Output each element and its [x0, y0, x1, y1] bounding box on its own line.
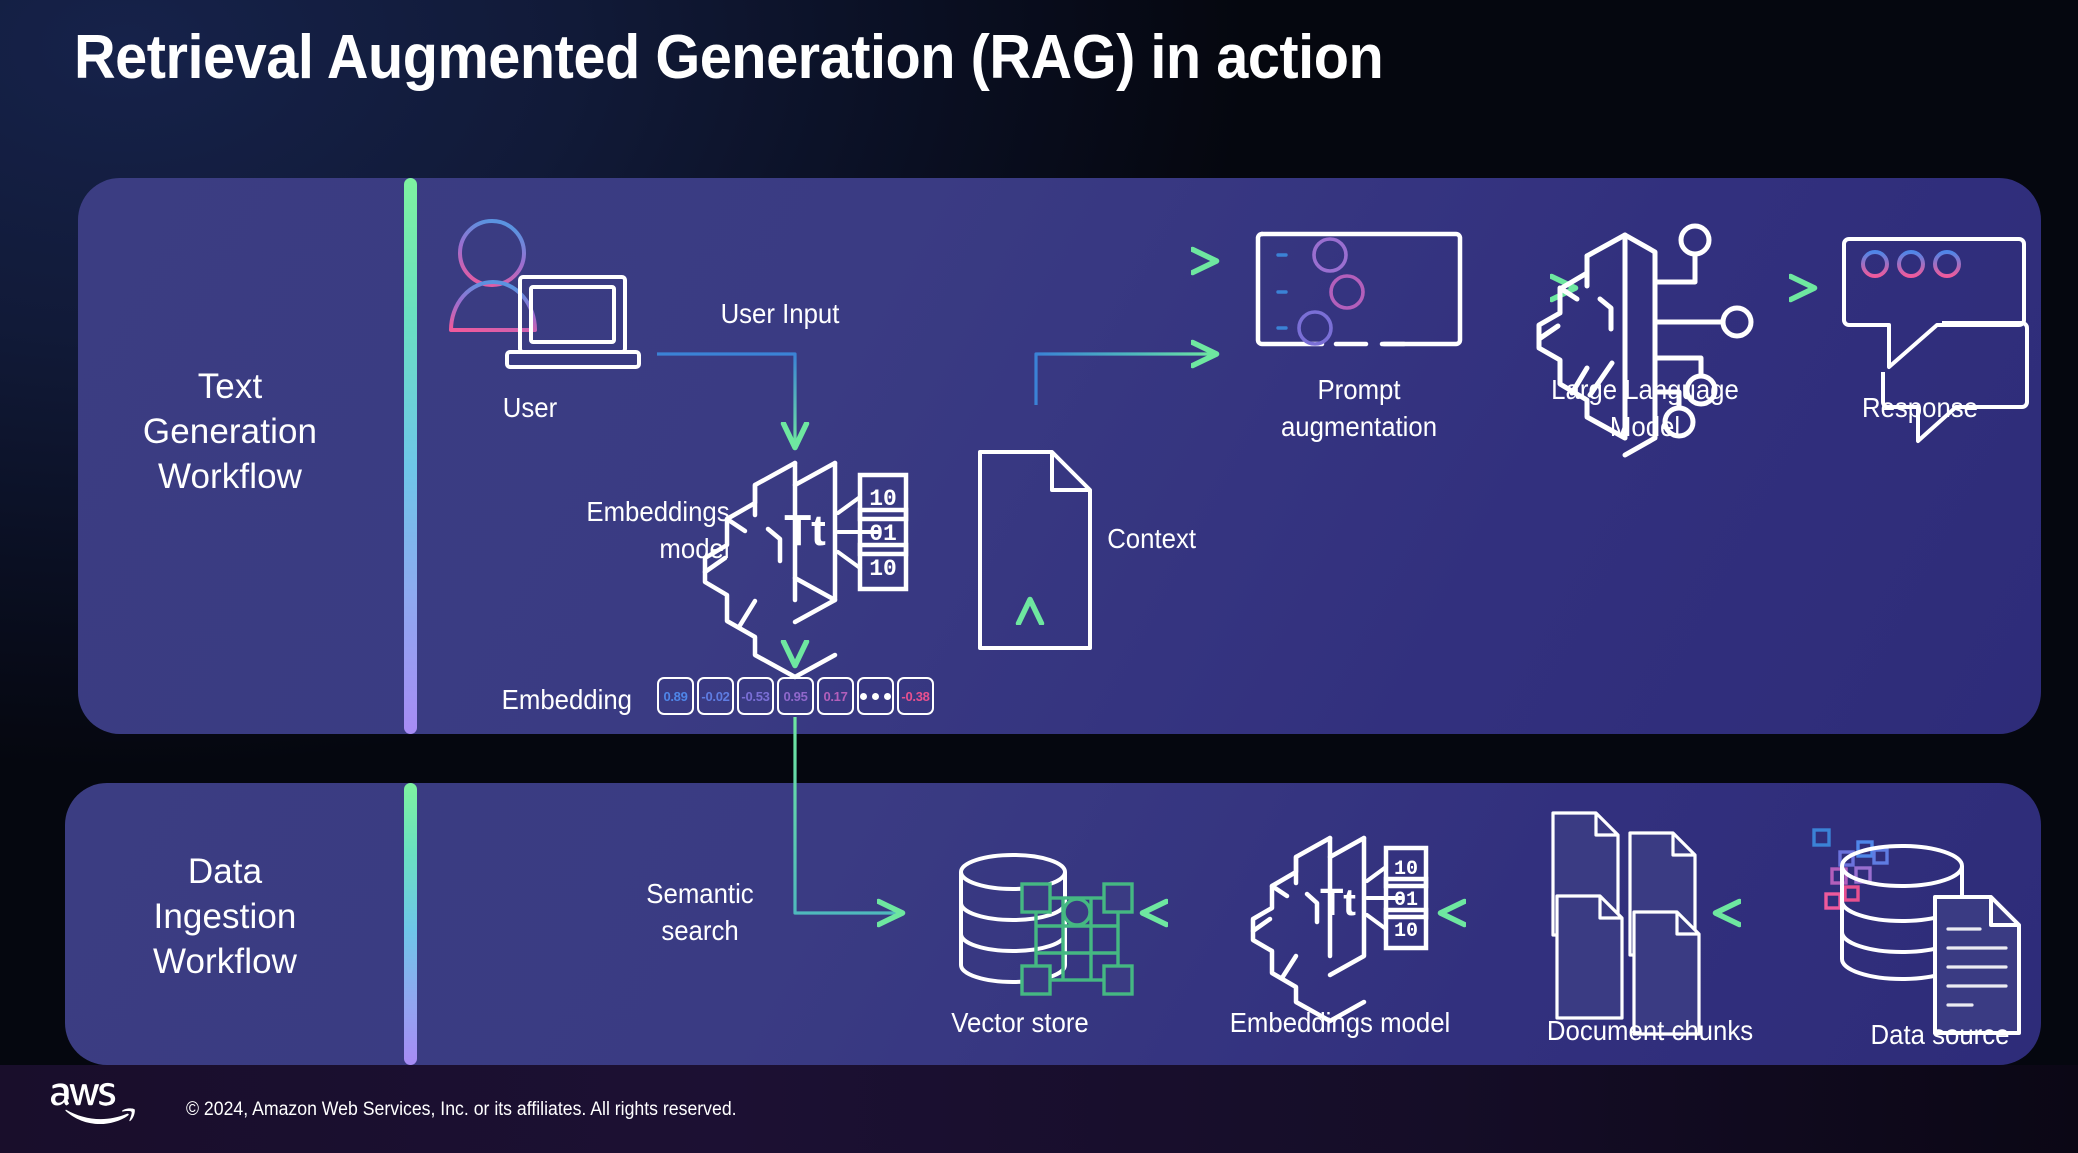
panel-label-line-3: Workflow	[60, 455, 400, 500]
label-response: Response	[1810, 390, 2031, 427]
label-data-source: Data source	[1825, 1017, 2055, 1054]
embedding-cell: 0.17	[817, 677, 854, 715]
embedding-vector: 0.89 -0.02 -0.53 0.95 0.17 -0.38	[657, 677, 934, 715]
aws-logo	[48, 1081, 140, 1127]
page-title: Retrieval Augmented Generation (RAG) in …	[74, 22, 1383, 93]
embedding-cell: 0.89	[657, 677, 694, 715]
label-user-input: User Input	[642, 296, 918, 333]
panel-label-line-2: Ingestion	[55, 895, 395, 940]
accent-bar-text-generation	[404, 178, 417, 734]
panel-label-data-ingestion: Data Ingestion Workflow	[55, 850, 395, 984]
label-large-language-model: Large Language Model	[1484, 372, 1806, 446]
panel-label-line-1: Text	[60, 365, 400, 410]
label-vector-store: Vector store	[910, 1005, 1131, 1042]
copyright-text: © 2024, Amazon Web Services, Inc. or its…	[186, 1099, 737, 1121]
panel-label-text-generation: Text Generation Workflow	[60, 365, 400, 499]
label-context: Context	[1107, 521, 1273, 558]
ellipsis-icon	[860, 693, 891, 700]
label-semantic-search: Semantic search	[580, 876, 819, 950]
embedding-cell: 0.95	[777, 677, 814, 715]
embedding-cell: -0.02	[697, 677, 734, 715]
panel-label-line-3: Workflow	[55, 940, 395, 985]
label-user: User	[447, 390, 613, 427]
embedding-cell: -0.38	[897, 677, 934, 715]
panel-label-line-2: Generation	[60, 410, 400, 455]
accent-bar-data-ingestion	[404, 783, 417, 1065]
embedding-cell: -0.53	[737, 677, 774, 715]
embedding-cell-ellipsis	[857, 677, 894, 715]
label-document-chunks: Document chunks	[1512, 1013, 1788, 1050]
label-embedding: Embedding	[448, 682, 632, 719]
label-embeddings-model-top: Embeddings model	[490, 494, 729, 568]
slide-canvas: Retrieval Augmented Generation (RAG) in …	[0, 0, 2078, 1153]
panel-label-line-1: Data	[55, 850, 395, 895]
label-embeddings-model-bottom: Embeddings model	[1188, 1005, 1492, 1042]
label-prompt-augmentation: Prompt augmentation	[1212, 372, 1506, 446]
